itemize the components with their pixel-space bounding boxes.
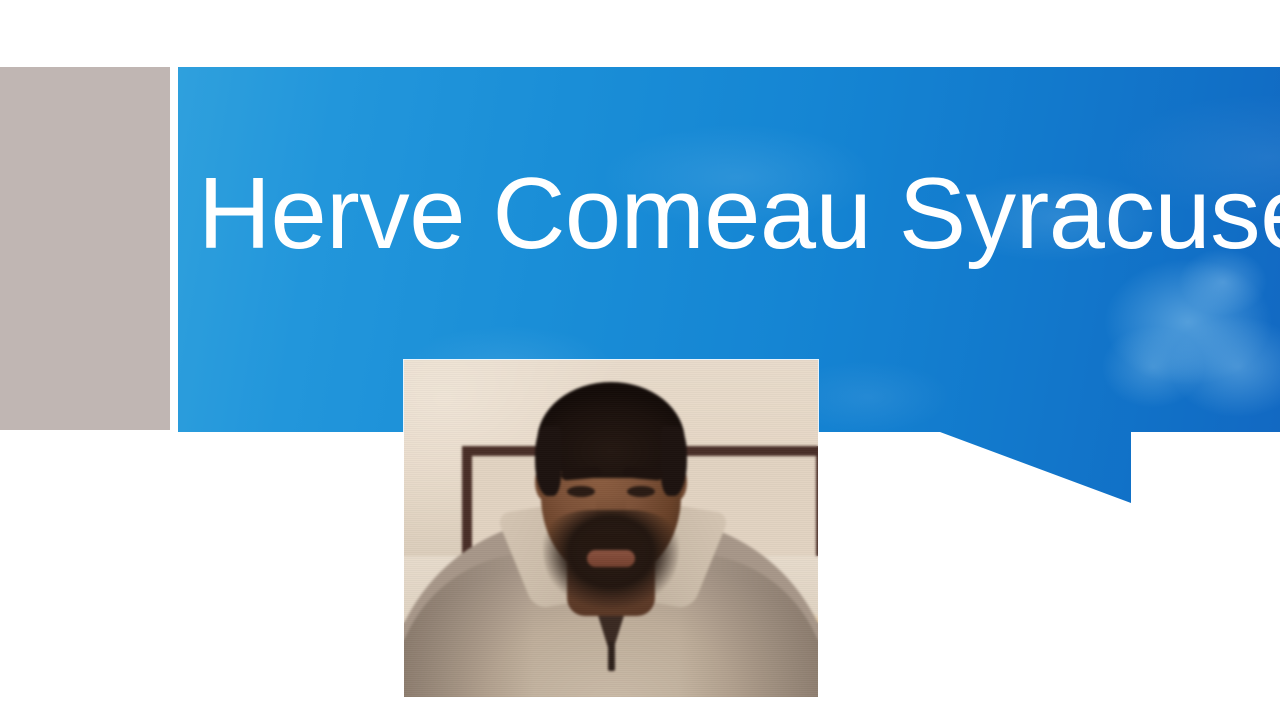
left-grey-accent-block — [0, 67, 170, 430]
portrait-photo — [404, 360, 818, 697]
page-title: Herve Comeau Syracuse — [198, 164, 1278, 265]
photo-subject-eye-right — [627, 486, 655, 497]
slide-canvas: Herve Comeau Syracuse — [0, 0, 1280, 720]
photo-subject-eye-left — [567, 486, 595, 497]
photo-subject-lips — [587, 550, 635, 567]
photo-subject-hair-right — [661, 426, 687, 496]
photo-zipper — [608, 641, 615, 671]
photo-subject-hair-left — [535, 426, 561, 496]
photo-subject-moustache — [581, 534, 641, 550]
